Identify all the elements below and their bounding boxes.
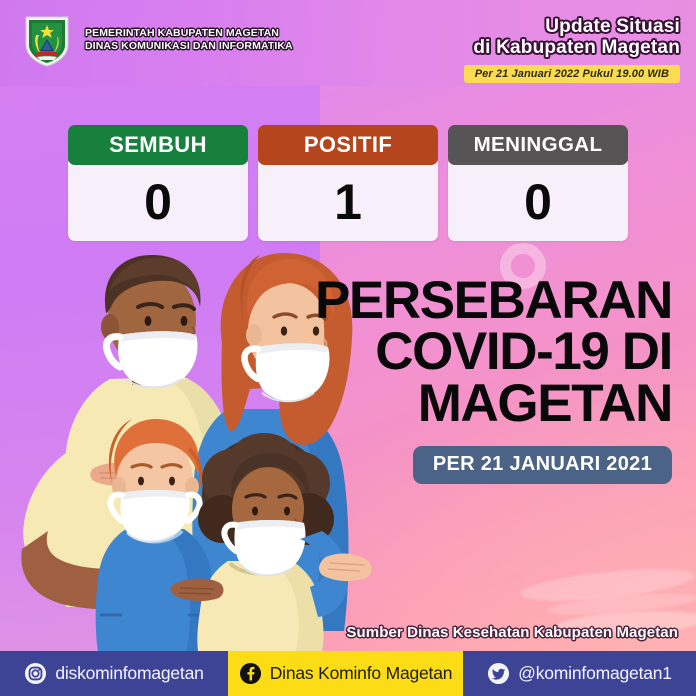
poster-header: PEMERINTAH KABUPATEN MAGETAN DINAS KOMUN… <box>0 0 696 88</box>
stat-card-recovered-value: 0 <box>144 177 172 227</box>
gov-line-2: DINAS KOMUNIKASI DAN INFORMATIKA <box>85 40 293 53</box>
update-situation-block: Update Situasi di Kabupaten Magetan Per … <box>464 16 680 83</box>
covid-update-poster: PEMERINTAH KABUPATEN MAGETAN DINAS KOMUN… <box>0 0 696 696</box>
footer-instagram[interactable]: diskominfomagetan <box>0 651 228 696</box>
twitter-icon <box>487 662 510 685</box>
footer-instagram-handle: diskominfomagetan <box>55 663 203 684</box>
stat-card-deceased-body: 0 <box>448 162 628 241</box>
stat-card-deceased-value: 0 <box>524 177 552 227</box>
footer-twitter[interactable]: @kominfomagetan1 <box>463 651 696 696</box>
main-title-line-1: PERSEBARAN <box>252 275 672 326</box>
main-title-line-2: COVID-19 DI <box>252 326 672 377</box>
stat-card-positive-body: 1 <box>258 162 438 241</box>
footer-facebook[interactable]: Dinas Kominfo Magetan <box>228 651 463 696</box>
update-timestamp-badge: Per 21 Januari 2022 Pukul 19.00 WIB <box>464 65 680 83</box>
stat-card-recovered[interactable]: SEMBUH 0 <box>68 125 248 241</box>
footer-facebook-handle: Dinas Kominfo Magetan <box>270 663 453 684</box>
update-title-line-1: Update Situasi <box>464 16 680 37</box>
facebook-icon <box>239 662 262 685</box>
stat-card-positive[interactable]: POSITIF 1 <box>258 125 438 241</box>
statistics-cards: SEMBUH 0 POSITIF 1 MENINGGAL 0 <box>68 125 628 241</box>
instagram-icon <box>24 662 47 685</box>
government-identity-block: PEMERINTAH KABUPATEN MAGETAN DINAS KOMUN… <box>18 11 293 69</box>
footer-twitter-handle: @kominfomagetan1 <box>518 663 672 684</box>
gov-line-1: PEMERINTAH KABUPATEN MAGETAN <box>85 27 293 40</box>
stat-card-recovered-body: 0 <box>68 162 248 241</box>
stat-card-deceased[interactable]: MENINGGAL 0 <box>448 125 628 241</box>
stat-card-deceased-label: MENINGGAL <box>448 125 628 165</box>
data-source-note: Sumber Dinas Kesehatan Kabupaten Magetan <box>346 624 678 641</box>
report-date-badge: PER 21 JANUARI 2021 <box>413 446 672 484</box>
magetan-regency-crest-icon <box>18 11 76 69</box>
stat-card-positive-label: POSITIF <box>258 125 438 165</box>
update-title-line-2: di Kabupaten Magetan <box>464 37 680 58</box>
main-title-block: PERSEBARAN COVID-19 DI MAGETAN PER 21 JA… <box>252 275 672 484</box>
social-media-footer: diskominfomagetan Dinas Kominfo Magetan … <box>0 651 696 696</box>
government-identity-text: PEMERINTAH KABUPATEN MAGETAN DINAS KOMUN… <box>85 27 293 54</box>
stat-card-recovered-label: SEMBUH <box>68 125 248 165</box>
stat-card-positive-value: 1 <box>334 177 362 227</box>
main-title-line-3: MAGETAN <box>252 378 672 429</box>
